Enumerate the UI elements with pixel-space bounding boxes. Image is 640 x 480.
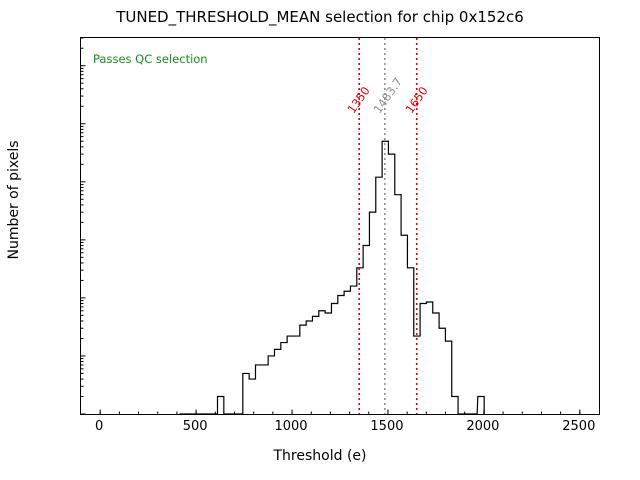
x-tick-label-0: 0 (64, 419, 134, 434)
x-tick-label-1: 500 (160, 419, 230, 434)
figure: TUNED_THRESHOLD_MEAN selection for chip … (0, 0, 640, 480)
x-tick-label-4: 2000 (448, 419, 518, 434)
x-tick-label-2: 1000 (256, 419, 326, 434)
qc-annotation: Passes QC selection (93, 52, 208, 66)
x-tick-label-5: 2500 (544, 419, 614, 434)
chart-title: TUNED_THRESHOLD_MEAN selection for chip … (0, 8, 640, 26)
histogram-canvas (81, 38, 599, 414)
histogram-outline (180, 141, 485, 414)
y-axis-title: Number of pixels (6, 10, 22, 390)
x-tick-label-3: 1500 (352, 419, 422, 434)
plot-area: Passes QC selection (80, 37, 600, 415)
x-axis-title: Threshold (e) (0, 448, 640, 464)
